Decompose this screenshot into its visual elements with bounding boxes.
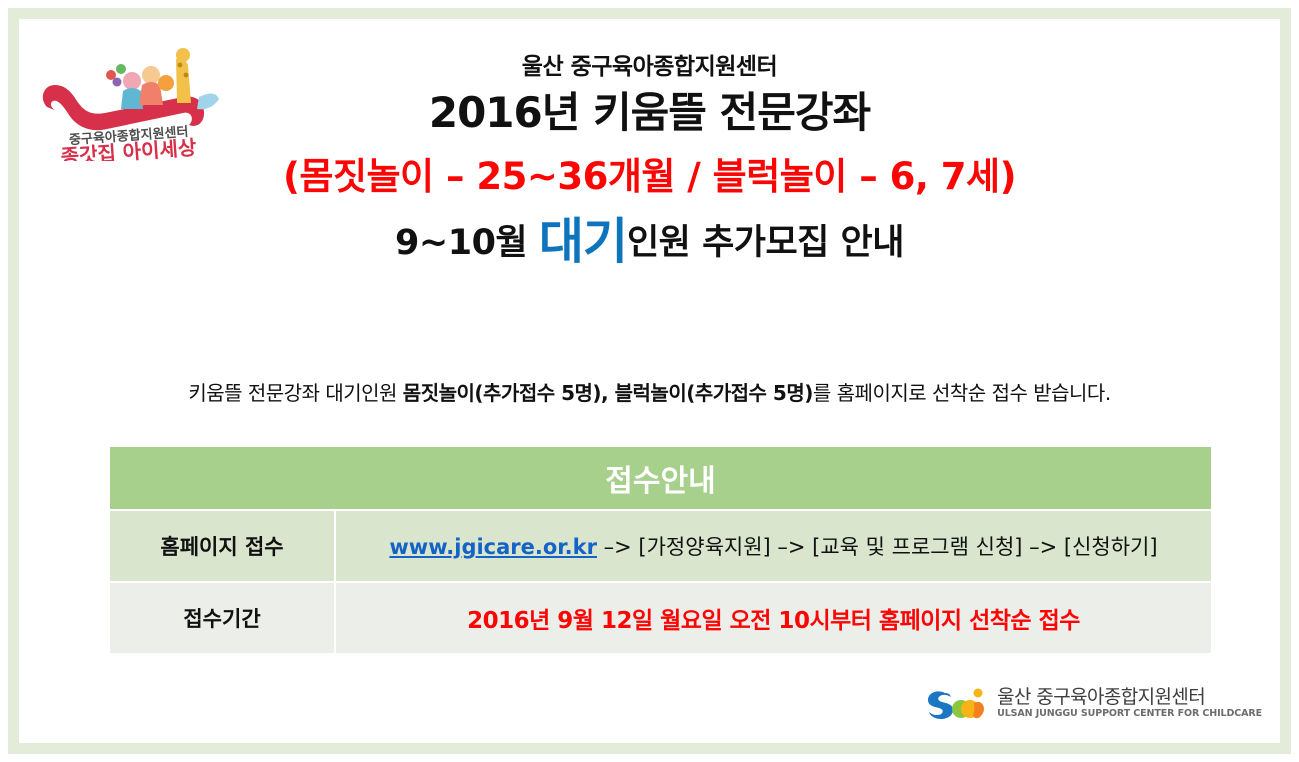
organization-name: 울산 중구육아종합지원센터 — [19, 53, 1280, 82]
third-line-prefix: 9~10월 — [395, 223, 539, 263]
logo-s-swoosh — [928, 691, 953, 719]
heading-block: 울산 중구육아종합지원센터 2016년 키움뜰 전문강좌 (몸짓놀이 – 25~… — [19, 53, 1280, 265]
poster-main-title: 2016년 키움뜰 전문강좌 — [19, 90, 1280, 136]
table-row-period: 접수기간 2016년 9월 12일 월요일 오전 10시부터 홈페이지 선착순 … — [110, 583, 1211, 653]
footer-logo-text: 울산 중구육아종합지원센터 ULSAN JUNGGU SUPPORT CENTE… — [997, 687, 1262, 719]
intro-text-part2: 를 홈페이지로 선착순 접수 받습니다. — [813, 381, 1111, 405]
row-label-website: 홈페이지 접수 — [110, 511, 334, 581]
poster-subtitle-red: (몸짓놀이 – 25~36개월 / 블럭놀이 – 6, 7세) — [19, 156, 1280, 199]
website-navigation-path: –> [가정양육지원] –> [교육 및 프로그램 신청] –> [신청하기] — [597, 535, 1158, 559]
row-value-period: 2016년 9월 12일 월요일 오전 10시부터 홈페이지 선착순 접수 — [336, 583, 1211, 653]
website-url-link[interactable]: www.jgicare.or.kr — [389, 535, 597, 559]
footer-logo-mark — [925, 685, 987, 721]
poster-content: 중구육아종합지원센터 종갓집 아이세상 울산 중구육아종합지원센터 2016년 … — [19, 19, 1280, 743]
table-header-row: 접수안내 — [110, 447, 1211, 509]
footer-logo-en-name: ULSAN JUNGGU SUPPORT CENTER FOR CHILDCAR… — [997, 708, 1262, 719]
footer-logo-kr-name: 울산 중구육아종합지원센터 — [997, 687, 1262, 708]
row-label-period: 접수기간 — [110, 583, 334, 653]
logo-head-dot — [974, 689, 983, 698]
third-line-suffix: 인원 추가모집 안내 — [627, 223, 904, 263]
application-info-table: 접수안내 홈페이지 접수 www.jgicare.or.kr –> [가정양육지… — [108, 445, 1213, 655]
third-line-highlight: 대기 — [539, 213, 627, 270]
poster-border-frame: 중구육아종합지원센터 종갓집 아이세상 울산 중구육아종합지원센터 2016년 … — [8, 8, 1291, 754]
intro-text-bold: 몸짓놀이(추가접수 5명), 블럭놀이(추가접수 5명) — [403, 381, 813, 405]
poster-third-line: 9~10월 대기인원 추가모집 안내 — [19, 220, 1280, 264]
table-row-website: 홈페이지 접수 www.jgicare.or.kr –> [가정양육지원] –>… — [110, 511, 1211, 581]
intro-paragraph: 키움뜰 전문강좌 대기인원 몸짓놀이(추가접수 5명), 블럭놀이(추가접수 5… — [19, 377, 1280, 406]
footer-logo-artwork — [925, 685, 987, 721]
row-value-website: www.jgicare.or.kr –> [가정양육지원] –> [교육 및 프… — [336, 511, 1211, 581]
table-header-title: 접수안내 — [110, 447, 1211, 509]
poster-canvas: 중구육아종합지원센터 종갓집 아이세상 울산 중구육아종합지원센터 2016년 … — [0, 0, 1299, 762]
footer-logo: 울산 중구육아종합지원센터 ULSAN JUNGGU SUPPORT CENTE… — [925, 685, 1262, 721]
logo-orange-figure — [973, 702, 984, 718]
intro-text-part1: 키움뜰 전문강좌 대기인원 — [188, 381, 402, 405]
period-text: 2016년 9월 12일 월요일 오전 10시부터 홈페이지 선착순 접수 — [467, 608, 1080, 634]
